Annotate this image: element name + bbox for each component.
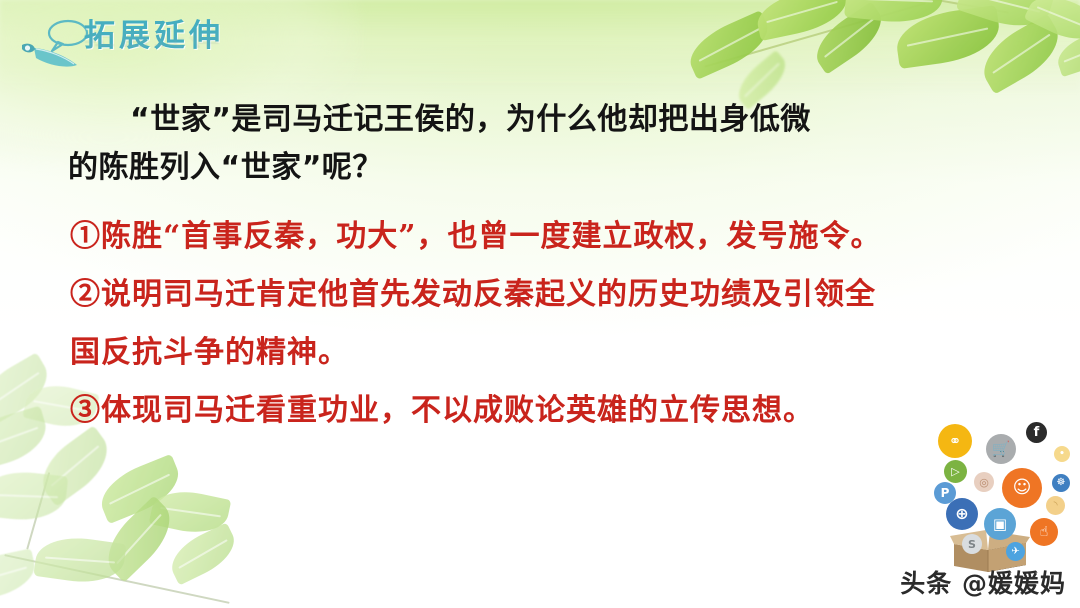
answer-item: ③体现司马迁看重功业，不以成败论英雄的立传思想。 <box>70 382 1030 440</box>
page-title-reflection: 拓展延伸 <box>84 21 224 49</box>
answer-list: ①陈胜“首事反秦，功大”，也曾一度建立政权，发号施令。 ②说明司马迁肯定他首先发… <box>70 208 1030 440</box>
shopping-cart-icon[interactable]: 🛒 <box>986 434 1016 464</box>
watermark-text: 头条 @媛媛妈 <box>900 564 1066 600</box>
answer-item: ①陈胜“首事反秦，功大”，也曾一度建立政权，发号施令。 <box>70 208 1030 266</box>
question-line: “世家”是司马迁记王侯的，为什么他却把出身低微 <box>68 96 998 144</box>
twitter-icon[interactable]: ✈ <box>1006 542 1025 561</box>
devices-icon[interactable]: ▣ <box>984 508 1016 540</box>
tag-label-icon[interactable]: ▷ <box>944 460 967 483</box>
answer-item: 国反抗斗争的精神。 <box>70 324 1030 382</box>
link-chain-icon[interactable]: ⚭ <box>938 424 972 458</box>
chat-bubble-icon[interactable]: ◝ <box>1046 496 1065 515</box>
skype-icon[interactable]: S <box>962 534 982 554</box>
slide-canvas: 拓展延伸 拓展延伸 “世家”是司马迁记王侯的，为什么他却把出身低微 的陈胜列入“… <box>0 0 1080 608</box>
page-title: 拓展延伸 拓展延伸 <box>84 18 384 82</box>
globe-icon[interactable]: ⊕ <box>946 498 978 530</box>
head-idea-icon[interactable]: ☺ <box>1002 468 1042 508</box>
social-media-icon-cluster: ⚭ 🛒 f • ▷ P ◎ ☺ ☸ ⊕ ▣ ◝ ☝ S ✈ <box>930 412 1080 572</box>
thumbs-up-icon[interactable]: ☝ <box>1030 518 1058 546</box>
facebook-icon[interactable]: f <box>1026 422 1047 443</box>
users-group-icon[interactable]: ☸ <box>1052 474 1070 492</box>
target-circle-icon[interactable]: ◎ <box>974 472 994 492</box>
question-block: “世家”是司马迁记王侯的，为什么他却把出身低微 的陈胜列入“世家”呢？ <box>68 96 998 192</box>
answer-item: ②说明司马迁肯定他首先发动反秦起义的历史功绩及引领全 <box>70 266 1030 324</box>
question-line: 的陈胜列入“世家”呢？ <box>68 144 998 192</box>
slide-header: 拓展延伸 拓展延伸 <box>0 0 1080 84</box>
share-nodes-icon[interactable]: • <box>1054 446 1070 462</box>
